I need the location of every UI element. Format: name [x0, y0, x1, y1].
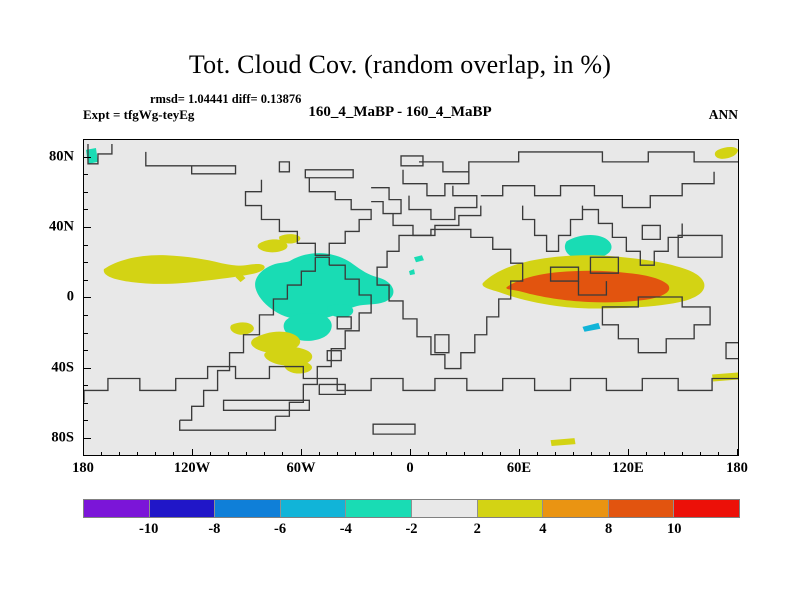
- figure-title: Tot. Cloud Cov. (random overlap, in %): [0, 50, 800, 80]
- y-axis-label-80n: 80N: [26, 149, 74, 166]
- y-axis-label-40n: 40N: [26, 219, 74, 236]
- arctic-east-positive-speck: [715, 147, 738, 159]
- antarctic-positive-speck-2: [712, 373, 738, 382]
- coastline-europe-south: [409, 186, 477, 220]
- colorbar-segment-4: [346, 500, 412, 517]
- colorbar-segment-9: [674, 500, 739, 517]
- coastline-newguinea-box: [678, 235, 722, 257]
- coastline-sa-bottom: [180, 416, 276, 430]
- x-axis-label-180e: 180: [726, 460, 748, 477]
- y-axis-label-0: 0: [26, 289, 74, 306]
- x-axis-label-0: 0: [406, 460, 413, 477]
- coastline-europe-main: [403, 162, 469, 196]
- antarctic-positive-speck: [551, 438, 576, 446]
- colorbar-segment-3: [281, 500, 347, 517]
- x-axis-label-180w: 180: [72, 460, 94, 477]
- case-comparison-label: 160_4_MaBP - 160_4_MaBP: [0, 104, 800, 121]
- colorbar-segment-5: [412, 500, 478, 517]
- coastline-newzealand: [726, 343, 738, 359]
- indian-ocean-negative-speck-2: [409, 269, 415, 275]
- colorbar-segment-2: [215, 500, 281, 517]
- x-axis-label-120w: 120W: [174, 460, 210, 477]
- coastline-sa-inner-box-2: [327, 351, 341, 361]
- coastline-asia-south: [481, 172, 714, 208]
- coastline-philippines-box: [642, 225, 660, 239]
- coastline-antarctica-inner-2: [373, 424, 415, 434]
- coastline-greenland-strip: [305, 170, 353, 178]
- season-label: ANN: [709, 107, 738, 123]
- x-axis-label-60w: 60W: [287, 460, 316, 477]
- indian-ocean-positive-streak-3: [230, 322, 254, 334]
- coastline-madagascar: [435, 335, 449, 353]
- colorbar-label-neg2: -2: [405, 521, 417, 538]
- colorbar-label-neg8: -8: [208, 521, 220, 538]
- x-axis-label-120e: 120E: [612, 460, 643, 477]
- world-map-contour-svg: [84, 140, 738, 455]
- colorbar-label-neg4: -4: [340, 521, 352, 538]
- coastline-europe: [401, 156, 423, 166]
- x-axis-label-60e: 60E: [507, 460, 531, 477]
- coastline-sa-inner-box: [337, 317, 351, 329]
- coastline-asia-main: [469, 152, 738, 172]
- colorbar: [83, 499, 740, 518]
- colorbar-segment-8: [609, 500, 675, 517]
- colorbar-segment-1: [150, 500, 216, 517]
- colorbar-label-2: 2: [474, 521, 481, 538]
- coastline-mediterranean: [393, 206, 481, 236]
- africa-indian-ocean-negative-blob: [255, 253, 393, 320]
- coastline-greenland-box: [279, 162, 289, 172]
- colorbar-segment-6: [478, 500, 544, 517]
- colorbar-label-4: 4: [539, 521, 546, 538]
- y-axis-label-40s: 40S: [26, 360, 74, 377]
- colorbar-segment-0: [84, 500, 150, 517]
- coastline-africa: [377, 229, 523, 368]
- colorbar-label-8: 8: [605, 521, 612, 538]
- colorbar-label-neg6: -6: [274, 521, 286, 538]
- y-axis-label-80s: 80S: [26, 430, 74, 447]
- coastline-north-america-east: [371, 188, 401, 214]
- colorbar-label-10: 10: [667, 521, 682, 538]
- coastline-antarctica: [84, 367, 738, 403]
- coastline-arctic-strip-a: [146, 152, 236, 174]
- colorbar-segment-7: [543, 500, 609, 517]
- colorbar-label-neg10: -10: [139, 521, 158, 538]
- coastline-antarctica-inner-3: [319, 384, 345, 394]
- cloud-cover-anomaly-map-figure: Tot. Cloud Cov. (random overlap, in %) r…: [0, 0, 800, 600]
- map-plot-area: [83, 139, 739, 456]
- maritime-negative-speck-2: [582, 323, 600, 332]
- indian-ocean-negative-speck: [414, 255, 424, 262]
